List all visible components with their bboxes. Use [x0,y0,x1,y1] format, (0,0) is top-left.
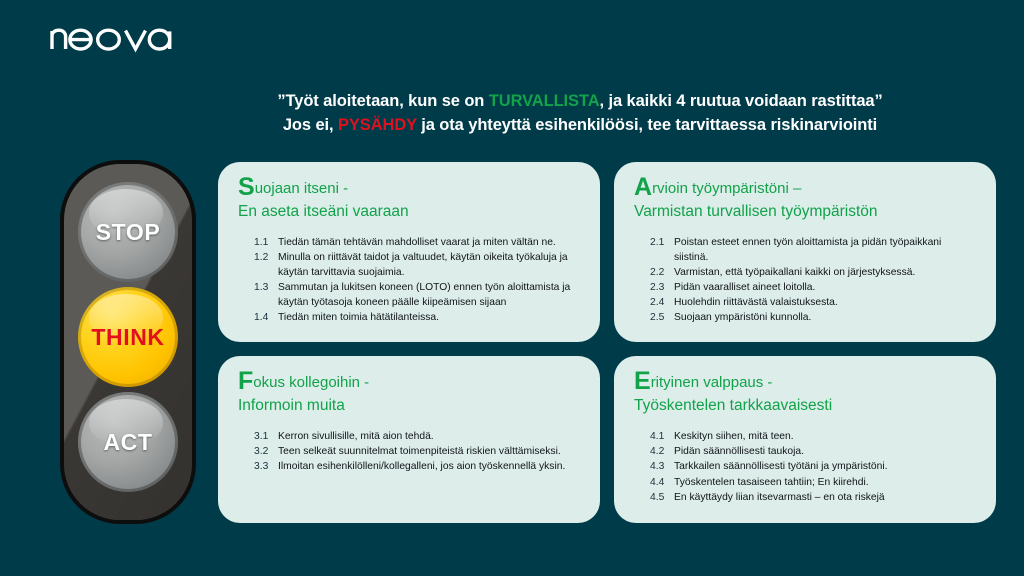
title-keyword-safe: TURVALLISTA [489,92,600,110]
card-4-heading-rest: rityinen valppaus - [651,374,773,391]
title-line-1: ”Työt aloitetaan, kun se on TURVALLISTA,… [180,90,980,114]
card-4-items: 4.1Keskityn siihen, mitä teen. 4.2Pidän … [632,430,978,505]
slide-root: ”Työt aloitetaan, kun se on TURVALLISTA,… [0,0,1024,576]
neova-logo [49,22,185,56]
card-4-subheading: Työskentelen tarkkaavaisesti [634,396,978,417]
traffic-lamp-think: THINK [78,287,178,387]
card-1-subheading: En aseta itseäni vaaraan [238,202,582,223]
title-line2-part-b: ja ota yhteyttä esihenkilöösi, tee tarvi… [417,116,877,134]
item-number: 2.3 [650,281,674,296]
list-item: 4.3Tarkkailen säännöllisesti työtäni ja … [650,460,978,475]
item-number: 2.1 [650,236,674,265]
card-3-heading-rest: okus kollegoihin - [253,374,369,391]
item-number: 2.2 [650,266,674,281]
item-number: 2.5 [650,311,674,326]
list-item: 1.4Tiedän miten toimia hätätilanteissa. [254,311,582,326]
item-text: Poistan esteet ennen työn aloittamista j… [674,236,978,265]
traffic-light: STOP THINK ACT [60,160,196,524]
list-item: 2.5Suojaan ympäristöni kunnolla. [650,311,978,326]
list-item: 3.3Ilmoitan esihenkilölleni/kollegalleni… [254,460,582,475]
item-number: 4.3 [650,460,674,475]
traffic-lamp-act-label: ACT [103,429,152,456]
item-number: 3.1 [254,430,278,445]
list-item: 4.2Pidän säännöllisesti taukoja. [650,445,978,460]
item-text: Minulla on riittävät taidot ja valtuudet… [278,251,582,280]
card-3-subheading: Informoin muita [238,396,582,417]
item-number: 1.2 [254,251,278,280]
item-text: Pidän säännöllisesti taukoja. [674,445,978,460]
item-number: 4.5 [650,491,674,506]
card-3-items: 3.1Kerron sivullisille, mitä aion tehdä.… [236,430,582,475]
item-number: 4.1 [650,430,674,445]
traffic-lamp-stop-label: STOP [96,219,161,246]
item-number: 1.4 [254,311,278,326]
list-item: 1.2Minulla on riittävät taidot ja valtuu… [254,251,582,280]
list-item: 4.4Työskentelen tasaiseen tahtiin; En ki… [650,476,978,491]
item-text: Työskentelen tasaiseen tahtiin; En kiire… [674,476,978,491]
card-1-dropcap: S [238,173,255,201]
list-item: 3.1Kerron sivullisille, mitä aion tehdä. [254,430,582,445]
item-text: En käyttäydy liian itsevarmasti – en ota… [674,491,978,506]
item-number: 1.3 [254,281,278,310]
list-item: 2.4Huolehdin riittävästä valaistuksesta. [650,296,978,311]
item-text: Varmistan, että työpaikallani kaikki on … [674,266,978,281]
item-number: 3.3 [254,460,278,475]
item-number: 3.2 [254,445,278,460]
item-number: 1.1 [254,236,278,251]
card-3-dropcap: F [238,367,253,395]
page-title: ”Työt aloitetaan, kun se on TURVALLISTA,… [180,90,980,138]
card-4-heading: Erityinen valppaus - [634,370,978,393]
list-item: 2.2Varmistan, että työpaikallani kaikki … [650,266,978,281]
list-item: 3.2Teen selkeät suunnitelmat toimenpitei… [254,445,582,460]
list-item: 4.5En käyttäydy liian itsevarmasti – en … [650,491,978,506]
card-fokus-kollegoihin: Fokus kollegoihin - Informoin muita 3.1K… [218,356,600,523]
traffic-lamp-think-label: THINK [91,324,164,351]
card-2-heading: Arvioin työympäristöni – [634,176,978,199]
card-suojaan-itseni: Suojaan itseni - En aseta itseäni vaaraa… [218,162,600,342]
item-text: Pidän vaaralliset aineet loitolla. [674,281,978,296]
item-number: 4.4 [650,476,674,491]
traffic-lamp-act: ACT [78,392,178,492]
title-line1-part-a: ”Työt aloitetaan, kun se on [277,92,488,110]
card-2-heading-rest: rvioin työympäristöni – [652,180,801,197]
list-item: 4.1Keskityn siihen, mitä teen. [650,430,978,445]
title-line-2: Jos ei, PYSÄHDY ja ota yhteyttä esihenki… [180,114,980,138]
item-text: Tarkkailen säännöllisesti työtäni ja ymp… [674,460,978,475]
list-item: 1.1Tiedän tämän tehtävän mahdolliset vaa… [254,236,582,251]
item-text: Tiedän tämän tehtävän mahdolliset vaarat… [278,236,582,251]
item-number: 4.2 [650,445,674,460]
item-text: Sammutan ja lukitsen koneen (LOTO) ennen… [278,281,582,310]
card-2-dropcap: A [634,173,652,201]
item-number: 2.4 [650,296,674,311]
card-1-heading-rest: uojaan itseni - [255,180,348,197]
item-text: Huolehdin riittävästä valaistuksesta. [674,296,978,311]
card-2-items: 2.1Poistan esteet ennen työn aloittamist… [632,236,978,326]
card-2-subheading: Varmistan turvallisen työympäristön [634,202,978,223]
list-item: 2.3Pidän vaaralliset aineet loitolla. [650,281,978,296]
list-item: 1.3Sammutan ja lukitsen koneen (LOTO) en… [254,281,582,310]
item-text: Kerron sivullisille, mitä aion tehdä. [278,430,582,445]
title-line2-part-a: Jos ei, [283,116,338,134]
title-line1-part-b: , ja kaikki 4 ruutua voidaan rastittaa” [600,92,883,110]
list-item: 2.1Poistan esteet ennen työn aloittamist… [650,236,978,265]
item-text: Suojaan ympäristöni kunnolla. [674,311,978,326]
card-4-dropcap: E [634,367,651,395]
card-1-heading: Suojaan itseni - [238,176,582,199]
card-1-items: 1.1Tiedän tämän tehtävän mahdolliset vaa… [236,236,582,325]
title-keyword-stop: PYSÄHDY [338,116,417,134]
card-3-heading: Fokus kollegoihin - [238,370,582,393]
item-text: Ilmoitan esihenkilölleni/kollegalleni, j… [278,460,582,475]
item-text: Teen selkeät suunnitelmat toimenpiteistä… [278,445,582,460]
item-text: Tiedän miten toimia hätätilanteissa. [278,311,582,326]
card-erityinen-valppaus: Erityinen valppaus - Työskentelen tarkka… [614,356,996,523]
card-arvioin-tyoymparistoni: Arvioin työympäristöni – Varmistan turva… [614,162,996,342]
item-text: Keskityn siihen, mitä teen. [674,430,978,445]
traffic-lamp-stop: STOP [78,182,178,282]
